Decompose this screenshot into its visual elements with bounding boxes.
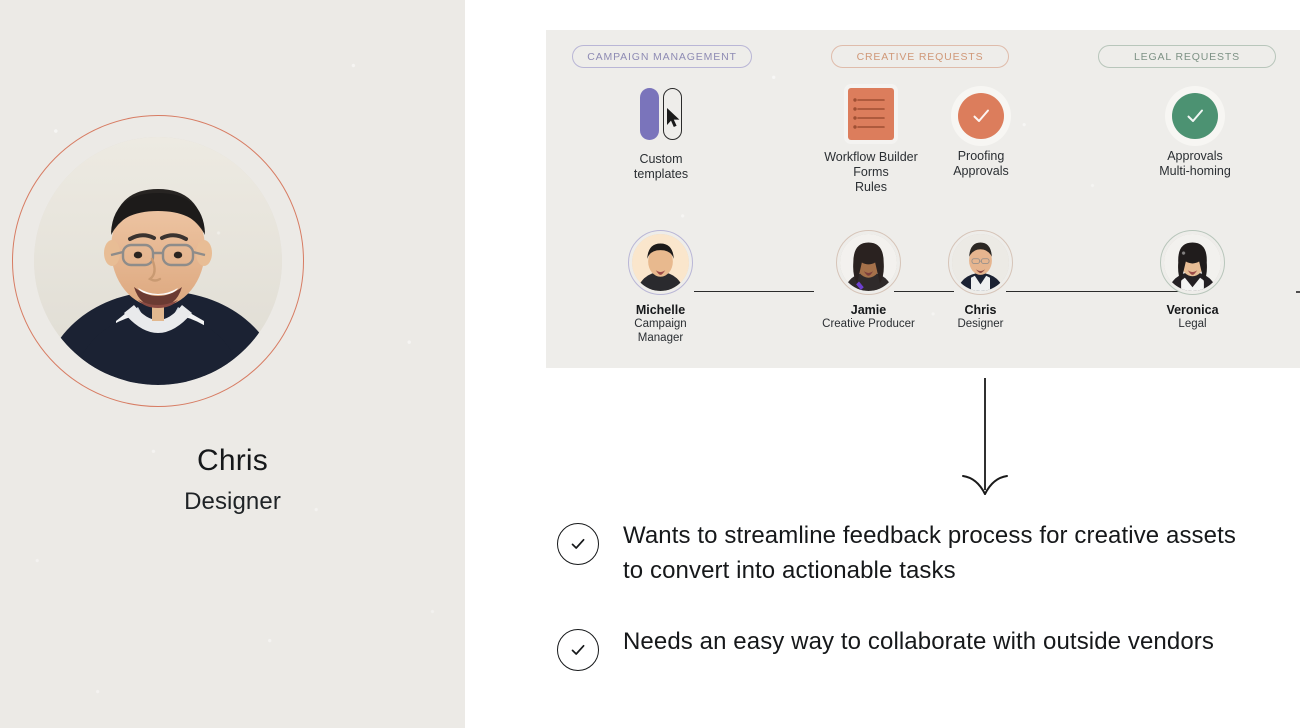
needs-list: Wants to streamline feedback process for… [557, 518, 1237, 707]
arrow-down-icon [955, 378, 1015, 500]
person-role: Legal [1120, 317, 1265, 331]
person-role: Designer [908, 317, 1053, 331]
avatar-ring [948, 230, 1013, 295]
capability-proofing-approvals: Proofing Approvals [911, 93, 1051, 179]
person-chris[interactable]: Chris Designer [908, 230, 1053, 331]
content-panel: CAMPAIGN MANAGEMENT CREATIVE REQUESTS LE… [465, 0, 1300, 728]
capability-custom-templates: Custom templates [591, 88, 731, 182]
avatar-ring [836, 230, 901, 295]
person-name: Michelle [593, 303, 728, 317]
cursor-icon [666, 108, 682, 128]
avatar-ring [628, 230, 693, 295]
pill-shape-filled [640, 88, 659, 140]
persona-panel: Chris Designer [0, 0, 465, 728]
capability-caption: Custom templates [591, 152, 731, 182]
capability-approvals-multihoming: Approvals Multi-homing [1120, 93, 1270, 179]
capability-caption: Approvals Multi-homing [1120, 149, 1270, 179]
avatar [632, 234, 689, 291]
need-text: Wants to streamline feedback process for… [623, 518, 1237, 588]
check-circle-icon [1172, 93, 1218, 139]
person-role: Campaign Manager [593, 317, 728, 345]
portrait-photo [34, 137, 282, 385]
person-name: Veronica [1120, 303, 1265, 317]
checklist-document-icon [848, 88, 894, 140]
check-circle-outline-icon [557, 629, 599, 671]
toggle-pills-cursor-icon [630, 88, 692, 142]
avatar-ring [1160, 230, 1225, 295]
person-michelle[interactable]: Michelle Campaign Manager [593, 230, 728, 345]
pill-creative-requests[interactable]: CREATIVE REQUESTS [831, 45, 1009, 68]
need-text: Needs an easy way to collaborate with ou… [623, 624, 1214, 659]
pill-campaign-management[interactable]: CAMPAIGN MANAGEMENT [572, 45, 752, 68]
persona-slide: Chris Designer CAMPAIGN MANAGEMENT CREAT… [0, 0, 1300, 728]
workflow-diagram: CAMPAIGN MANAGEMENT CREATIVE REQUESTS LE… [546, 30, 1300, 368]
person-veronica[interactable]: Veronica Legal [1120, 230, 1265, 331]
check-circle-icon [958, 93, 1004, 139]
list-item: Needs an easy way to collaborate with ou… [557, 624, 1237, 671]
page-title: Chris [0, 444, 465, 478]
capability-caption: Proofing Approvals [911, 149, 1051, 179]
person-name: Chris [908, 303, 1053, 317]
avatar [952, 234, 1009, 291]
pill-legal-requests[interactable]: LEGAL REQUESTS [1098, 45, 1276, 68]
persona-portrait [12, 115, 304, 407]
persona-role: Designer [0, 488, 465, 516]
arrow-right-icon [1296, 273, 1300, 311]
list-item: Wants to streamline feedback process for… [557, 518, 1237, 588]
avatar [840, 234, 897, 291]
check-circle-outline-icon [557, 523, 599, 565]
avatar [1164, 234, 1221, 291]
